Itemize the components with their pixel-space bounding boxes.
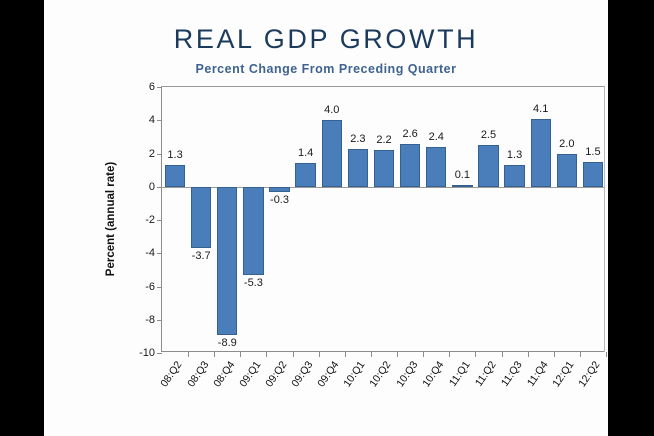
bar[interactable] <box>531 119 551 187</box>
x-axis-tick-label: 10:Q4 <box>420 359 446 389</box>
x-axis-tick-label: 09:Q3 <box>289 359 315 389</box>
bar-value-label: 0.1 <box>449 169 475 181</box>
bar[interactable] <box>348 149 368 187</box>
bar[interactable] <box>426 147 446 187</box>
bar-value-label: 1.3 <box>162 149 188 161</box>
bar-value-label: -5.3 <box>240 277 266 289</box>
bar[interactable] <box>243 187 263 275</box>
bar-value-label: 4.1 <box>528 103 554 115</box>
chart-canvas: REAL GDP GROWTH Percent Change From Prec… <box>44 0 608 436</box>
bar-value-label: 1.4 <box>293 147 319 159</box>
bar[interactable] <box>191 187 211 249</box>
plot-area: 6420-2-4-6-8-10 1.308:Q2-3.708:Q3-8.908:… <box>161 86 605 352</box>
y-axis-title-text: Percent (annual rate) <box>105 162 117 276</box>
chart-subtitle: Percent Change From Preceding Quarter <box>44 62 608 76</box>
x-axis-tick-mark <box>475 352 476 357</box>
bar-value-label: 1.5 <box>580 146 606 158</box>
x-axis-tick-mark <box>266 352 267 357</box>
x-axis-tick-mark <box>188 352 189 357</box>
x-axis-tick-mark <box>240 352 241 357</box>
bar-group: 2.012:Q1 <box>554 87 580 352</box>
screenshot-root: REAL GDP GROWTH Percent Change From Prec… <box>0 0 654 436</box>
x-axis-tick-label: 12:Q1 <box>550 359 576 389</box>
bar-value-label: -0.3 <box>266 194 292 206</box>
x-axis-tick-label: 09:Q4 <box>315 359 341 389</box>
x-axis-tick-mark <box>293 352 294 357</box>
bar-value-label: -3.7 <box>188 250 214 262</box>
bar[interactable] <box>452 185 472 187</box>
x-axis-tick-label: 11:Q3 <box>499 359 525 389</box>
bar-group: 1.308:Q2 <box>162 87 188 352</box>
letterbox-band-right <box>608 0 654 436</box>
bar-value-label: 2.2 <box>371 134 397 146</box>
bar-value-label: -8.9 <box>214 337 240 349</box>
x-axis-tick-label: 10:Q1 <box>341 359 367 389</box>
bar[interactable] <box>583 162 603 187</box>
x-axis-tick-label: 09:Q2 <box>263 359 289 389</box>
bar-group: 1.311:Q3 <box>502 87 528 352</box>
x-axis-tick-mark <box>502 352 503 357</box>
bar-value-label: 1.3 <box>502 149 528 161</box>
y-axis-title: Percent (annual rate) <box>102 86 120 352</box>
bar[interactable] <box>400 144 420 187</box>
bar-group: 4.111:Q4 <box>528 87 554 352</box>
chart-title: REAL GDP GROWTH <box>44 24 608 55</box>
x-axis-tick-label: 09:Q1 <box>237 359 263 389</box>
bar-group: 1.409:Q3 <box>293 87 319 352</box>
x-axis-tick-label: 11:Q2 <box>473 359 499 389</box>
bar-value-label: 2.5 <box>475 129 501 141</box>
x-axis-tick-mark <box>345 352 346 357</box>
x-axis-tick-label: 10:Q2 <box>368 359 394 389</box>
bar-group: 4.009:Q4 <box>319 87 345 352</box>
x-axis-tick-mark <box>449 352 450 357</box>
x-axis-tick-label: 08:Q2 <box>159 359 185 389</box>
x-axis-tick-label: 12:Q2 <box>577 359 603 389</box>
x-axis-tick-mark <box>580 352 581 357</box>
x-axis-tick-mark <box>371 352 372 357</box>
bar[interactable] <box>165 165 185 187</box>
x-axis-tick-label: 11:Q1 <box>446 359 472 389</box>
bar-group: 2.610:Q3 <box>397 87 423 352</box>
bar[interactable] <box>217 187 237 335</box>
bar[interactable] <box>295 163 315 186</box>
x-axis-tick-mark <box>554 352 555 357</box>
x-axis-tick-mark <box>214 352 215 357</box>
x-axis-tick-label: 08:Q4 <box>211 359 237 389</box>
bar-group: -5.309:Q1 <box>240 87 266 352</box>
x-axis-tick-mark <box>528 352 529 357</box>
bar[interactable] <box>504 165 524 187</box>
bar-group: 2.310:Q1 <box>345 87 371 352</box>
x-axis-tick-label: 11:Q4 <box>525 359 551 389</box>
bar[interactable] <box>269 187 289 192</box>
x-axis-tick-mark <box>423 352 424 357</box>
bar-group: 1.512:Q2 <box>580 87 606 352</box>
bar-group: 2.210:Q2 <box>371 87 397 352</box>
bar-group: -0.309:Q2 <box>266 87 292 352</box>
bar-value-label: 2.6 <box>397 128 423 140</box>
x-axis-tick-mark <box>606 352 607 357</box>
bar-group: -3.708:Q3 <box>188 87 214 352</box>
bar[interactable] <box>557 154 577 187</box>
bar-value-label: 2.4 <box>423 131 449 143</box>
bar-value-label: 2.0 <box>554 138 580 150</box>
x-axis-tick-mark <box>397 352 398 357</box>
x-axis-tick-mark <box>319 352 320 357</box>
bar-group: -8.908:Q4 <box>214 87 240 352</box>
bar[interactable] <box>374 150 394 187</box>
bar-group: 2.511:Q2 <box>475 87 501 352</box>
bar[interactable] <box>322 120 342 187</box>
x-axis-tick-label: 10:Q3 <box>394 359 420 389</box>
x-axis-tick-label: 08:Q3 <box>185 359 211 389</box>
y-axis-tick-mark <box>157 353 162 354</box>
bar-group: 2.410:Q4 <box>423 87 449 352</box>
bar-value-label: 2.3 <box>345 133 371 145</box>
bar-group: 0.111:Q1 <box>449 87 475 352</box>
bar-value-label: 4.0 <box>319 104 345 116</box>
letterbox-band-left <box>0 0 44 436</box>
bar[interactable] <box>478 145 498 187</box>
